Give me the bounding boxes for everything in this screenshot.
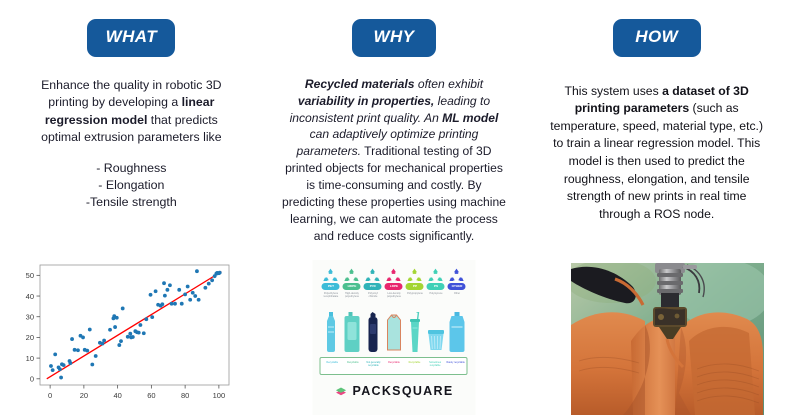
ldpe-bag-icon [385, 312, 402, 352]
resin-code-description: High-density polyethylene [342, 292, 361, 304]
scatter-point [131, 335, 135, 339]
resin-code-description: Polypropylene [405, 292, 424, 304]
hdpe-jug-icon [343, 312, 360, 352]
other-jug-icon [448, 312, 465, 352]
scatter-point [102, 339, 106, 343]
why-text-part4: Traditional testing of 3D printed object… [282, 144, 506, 243]
scatter-point [139, 323, 143, 327]
plastic-container-cell [321, 308, 340, 352]
scatter-point [168, 283, 172, 287]
scatter-point [51, 368, 55, 372]
scatter-point [149, 293, 153, 297]
recycling-triangle-icon [324, 268, 338, 281]
scatter-point [126, 335, 130, 339]
resin-code-pill: LDPE [385, 283, 403, 290]
resin-code-pill: PP [406, 283, 424, 290]
badge-how: HOW [613, 19, 701, 57]
plastic-container-cell [363, 308, 382, 352]
scatter-point [85, 349, 89, 353]
resin-code-pill: PS [427, 283, 445, 290]
recyclability-note: Recyclable [323, 361, 342, 371]
how-paragraph: This system uses a dataset of 3D printin… [548, 83, 766, 224]
how-text-part2: (such as temperature, speed, material ty… [550, 101, 763, 220]
recycling-triangle-icon [387, 268, 401, 281]
scatter-point [197, 298, 201, 302]
scatter-point [144, 317, 148, 321]
badge-what: WHAT [87, 19, 175, 57]
packsquare-brand-name: PACKSQUARE [352, 384, 453, 398]
printer-nozzle-photo [571, 263, 764, 415]
resin-code-description: Polyethylene terephthalate [321, 292, 340, 304]
x-tick-label: 100 [213, 391, 226, 400]
what-bullet-list: - Roughness - Elongation -Tensile streng… [86, 160, 177, 212]
ps-container-icon [427, 312, 444, 352]
scatter-point [207, 282, 211, 286]
scatter-point [81, 336, 85, 340]
resin-code-row: PETPolyethylene terephthalateHDPEHigh-de… [318, 268, 469, 304]
printer-nozzle-photo-svg [571, 263, 764, 415]
scatter-point [160, 302, 164, 306]
packsquare-brand: PACKSQUARE [334, 384, 453, 398]
scatter-point [170, 302, 174, 306]
resin-code-cell: PETPolyethylene terephthalate [321, 268, 340, 304]
scatter-point [119, 339, 123, 343]
scatter-point [59, 376, 63, 380]
scatter-point [210, 278, 214, 282]
why-text-part1: often exhibit [414, 77, 483, 91]
scatter-point [183, 292, 187, 296]
scatter-point [188, 298, 192, 302]
why-paragraph: Recycled materials often exhibit variabi… [280, 76, 508, 245]
scatter-point [177, 288, 181, 292]
what-paragraph: Enhance the quality in robotic 3D printi… [24, 77, 239, 147]
pet-bottle-icon [324, 312, 337, 352]
scatter-point [186, 285, 190, 289]
scatter-point [115, 316, 119, 320]
scatter-point [62, 363, 66, 367]
y-tick-label: 0 [30, 375, 34, 384]
pp-cup-icon [408, 312, 421, 352]
recycling-triangle-icon [345, 268, 359, 281]
resin-code-cell: PSPolystyrene [426, 268, 445, 304]
scatter-chart: 02040608010001020304050 [8, 255, 243, 415]
column-how: HOW This system uses a dataset of 3D pri… [525, 0, 788, 418]
column-what: WHAT Enhance the quality in robotic 3D p… [0, 0, 263, 418]
resin-code-description: Other [447, 292, 466, 304]
pvc-dispenser-icon [366, 312, 379, 352]
resin-code-cell: PVCPolyvinyl chloride [363, 268, 382, 304]
scatter-point [76, 348, 80, 352]
scatter-point [53, 352, 57, 356]
list-item: - Roughness [86, 160, 177, 177]
recyclability-note-bar: RecyclableRecyclableNot generally recycl… [320, 357, 468, 375]
scatter-point [94, 354, 98, 358]
scatter-point [88, 328, 92, 332]
scatter-point [142, 331, 146, 335]
resin-code-cell: PPPolypropylene [405, 268, 424, 304]
scatter-point [180, 302, 184, 306]
x-tick-label: 40 [113, 391, 121, 400]
scatter-point [162, 281, 166, 285]
scatter-point [163, 294, 167, 298]
resin-code-description: Low-density polyethylene [384, 292, 403, 304]
recycling-triangle-icon [450, 268, 464, 281]
x-tick-label: 80 [181, 391, 189, 400]
resin-code-pill: OTHER [448, 283, 466, 290]
column-why: WHY Recycled materials often exhibit var… [263, 0, 526, 418]
recycling-triangle-icon [429, 268, 443, 281]
y-tick-label: 50 [26, 271, 34, 280]
resin-code-cell: LDPELow-density polyethylene [384, 268, 403, 304]
x-tick-label: 60 [147, 391, 155, 400]
scatter-point [128, 332, 132, 336]
scatter-point [203, 286, 207, 290]
recycling-infographic: PETPolyethylene terephthalateHDPEHigh-de… [312, 260, 475, 415]
scatter-point [113, 325, 117, 329]
y-tick-label: 30 [26, 313, 34, 322]
resin-code-pill: PET [322, 283, 340, 290]
scatter-point [191, 291, 195, 295]
scatter-point [195, 269, 199, 273]
scatter-point [154, 289, 158, 293]
plastic-container-cell [342, 308, 361, 352]
resin-code-pill: HDPE [343, 283, 361, 290]
recycling-triangle-icon [366, 268, 380, 281]
scatter-point [58, 367, 62, 371]
scatter-point [73, 348, 77, 352]
y-tick-label: 20 [26, 333, 34, 342]
plastic-container-cell [447, 308, 466, 352]
resin-code-cell: HDPEHigh-density polyethylene [342, 268, 361, 304]
resin-code-pill: PVC [364, 283, 382, 290]
plastic-container-cell [426, 308, 445, 352]
scatter-point [68, 361, 72, 365]
plastic-container-cell [384, 308, 403, 352]
y-tick-label: 10 [26, 354, 34, 363]
list-item: -Tensile strength [86, 194, 177, 211]
scatter-point [121, 307, 125, 311]
scatter-point [70, 337, 74, 341]
scatter-chart-svg: 02040608010001020304050 [8, 255, 243, 415]
resin-code-cell: OTHEROther [447, 268, 466, 304]
resin-code-description: Polyvinyl chloride [363, 292, 382, 304]
recycling-triangle-icon [408, 268, 422, 281]
scatter-point [166, 288, 170, 292]
scatter-point [90, 363, 94, 367]
badge-why: WHY [352, 19, 436, 57]
packsquare-logo-icon [334, 384, 347, 397]
recyclability-note: Rarely recyclable [446, 361, 465, 371]
x-tick-label: 20 [80, 391, 88, 400]
recyclability-note: Recyclable [343, 361, 362, 371]
resin-code-description: Polystyrene [426, 292, 445, 304]
scatter-point [117, 343, 121, 347]
x-tick-label: 0 [48, 391, 52, 400]
scatter-point [218, 271, 222, 275]
scatter-point [108, 328, 112, 332]
plastic-container-row [318, 308, 469, 352]
scatter-point [49, 364, 53, 368]
how-text-part1: This system uses [565, 84, 663, 98]
scatter-point [137, 331, 141, 335]
recyclability-note: Recyclable [405, 361, 424, 371]
list-item: - Elongation [86, 177, 177, 194]
why-text-bold3: ML model [442, 111, 498, 125]
scatter-point [150, 315, 154, 319]
why-text-bold2: variability in properties, [298, 94, 434, 108]
recyclability-note: Not generally recyclable [364, 361, 383, 371]
three-column-poster: WHAT Enhance the quality in robotic 3D p… [0, 0, 788, 418]
recyclability-note: Recyclable [384, 361, 403, 371]
y-tick-label: 40 [26, 292, 34, 301]
plastic-container-cell [405, 308, 424, 352]
why-text-bold1: Recycled materials [305, 77, 415, 91]
recyclability-note: Sometimes recyclable [426, 361, 445, 371]
scatter-point [173, 302, 177, 306]
scatter-point [193, 294, 197, 298]
